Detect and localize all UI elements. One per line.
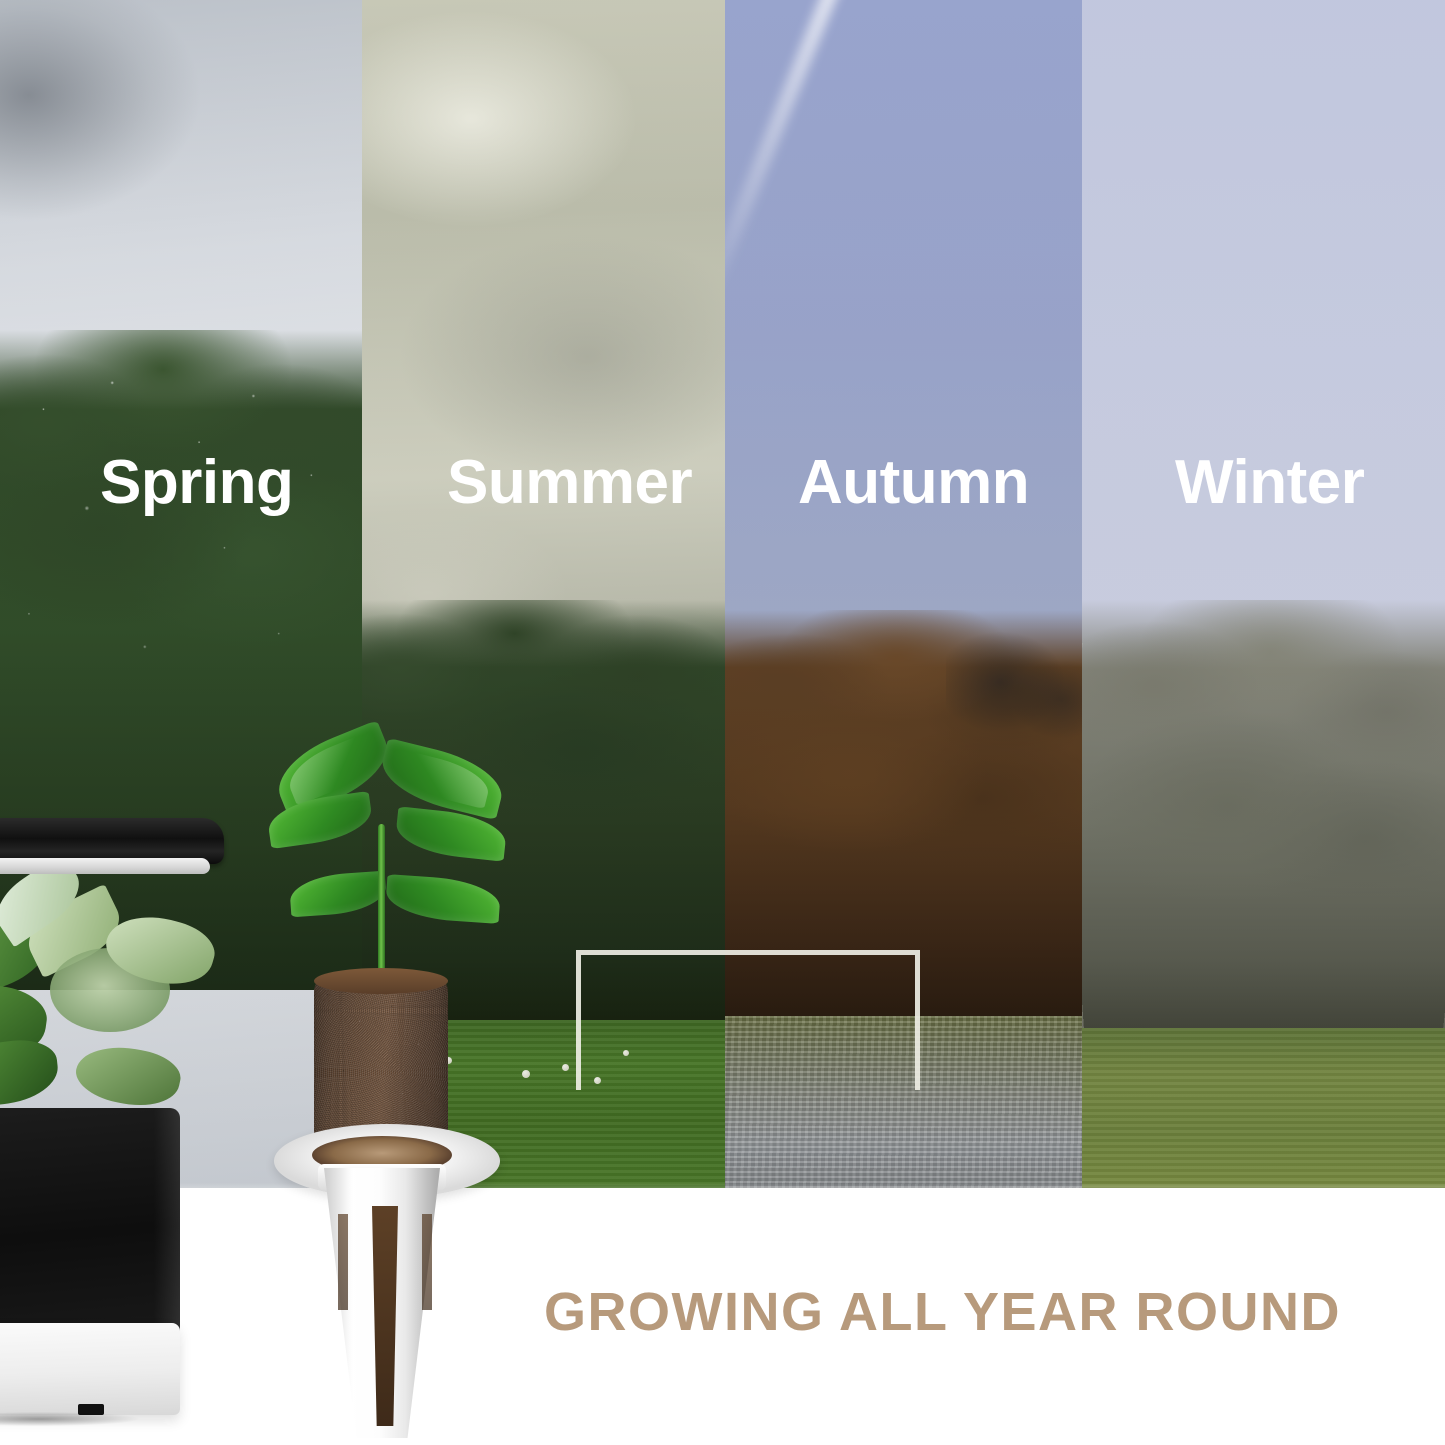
treeline-winter <box>1082 600 1445 1030</box>
pitch-ball <box>562 1064 569 1071</box>
device-reservoir-body <box>0 1108 180 1338</box>
season-label-spring: Spring <box>100 452 293 514</box>
seed-pod-assembly <box>268 706 536 1445</box>
season-panel-winter <box>1082 0 1445 1188</box>
tagline: GROWING ALL YEAR ROUND <box>544 1281 1341 1343</box>
seedling-leaf <box>385 874 502 924</box>
hydroponic-garden-device <box>0 818 224 1445</box>
football-goal-post <box>576 950 920 1090</box>
device-lid-edge <box>0 858 210 874</box>
pod-basket-slot <box>422 1214 432 1310</box>
seedling-leaf <box>375 738 508 820</box>
ground-winter <box>1082 1028 1445 1188</box>
seedling-leaf <box>289 871 388 918</box>
season-label-autumn: Autumn <box>798 452 1029 514</box>
product-lifestyle-image: Spring Summer Autumn Winter <box>0 0 1445 1445</box>
pod-basket-slot <box>338 1214 348 1310</box>
season-label-winter: Winter <box>1175 452 1364 514</box>
device-base <box>0 1323 180 1415</box>
contrail <box>725 0 854 290</box>
device-shadow <box>0 1410 164 1428</box>
season-label-summer: Summer <box>447 452 692 514</box>
